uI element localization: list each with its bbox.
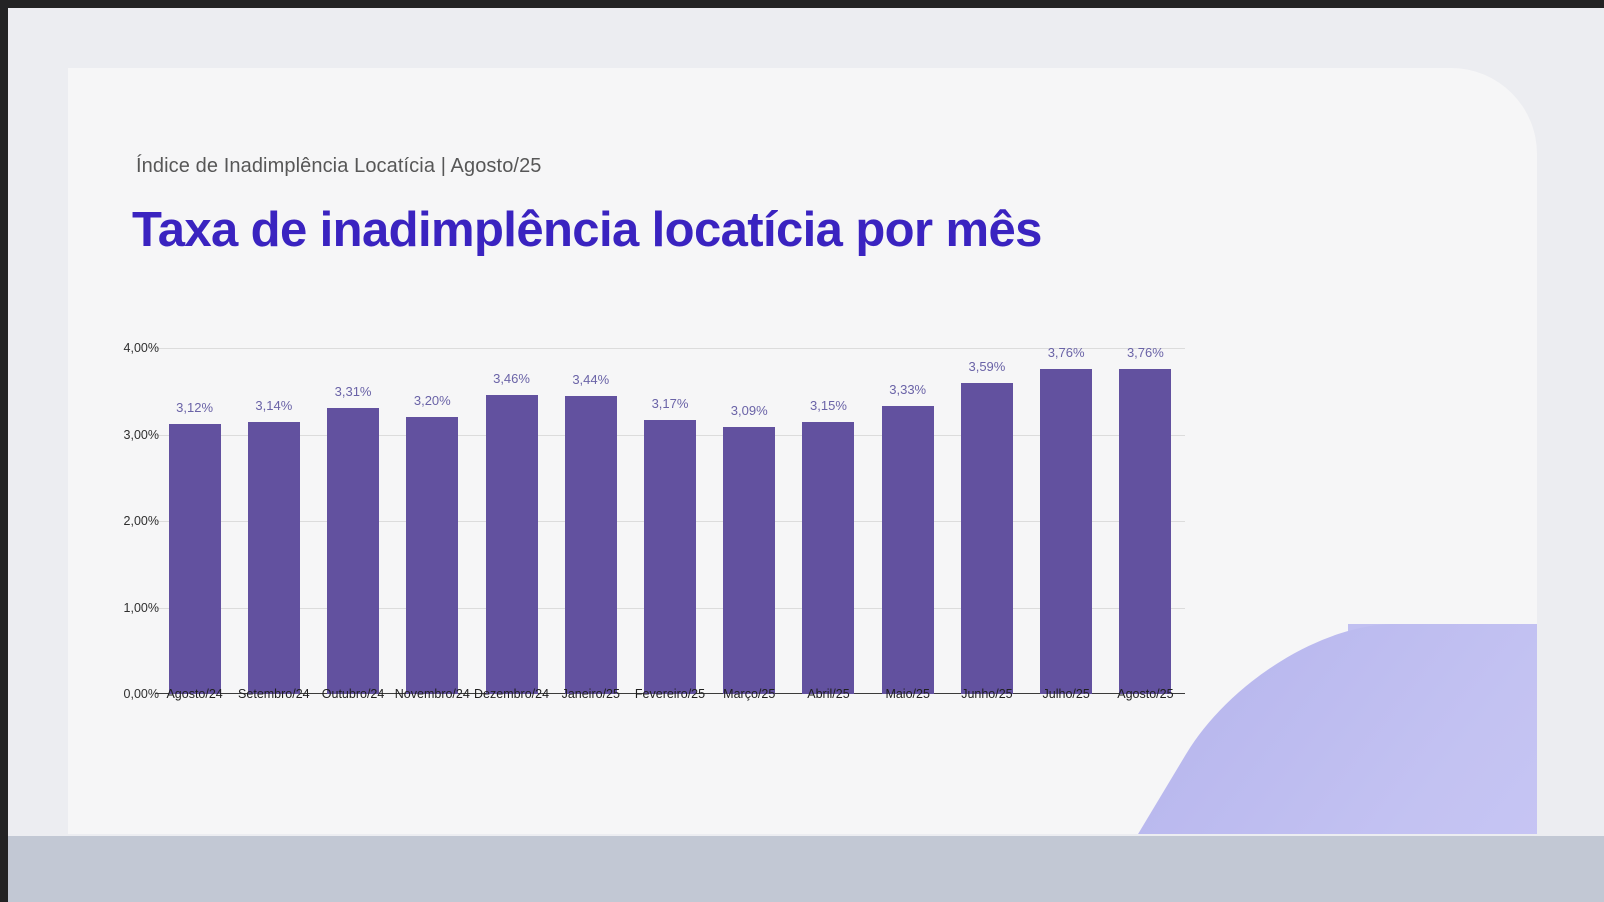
bar-value-label: 3,20%	[414, 393, 451, 408]
bar[interactable]	[644, 420, 696, 694]
window-chrome-top	[0, 0, 1604, 8]
x-axis-tick-label: Maio/25	[885, 687, 929, 701]
page-title: Taxa de inadimplência locatícia por mês	[132, 202, 1042, 258]
footer-band-left-edge	[0, 836, 8, 902]
bar[interactable]	[169, 424, 221, 694]
bar-value-label: 3,46%	[493, 371, 530, 386]
window-chrome-left	[0, 0, 8, 902]
x-axis-tick-label: Janeiro/25	[562, 687, 620, 701]
x-axis-tick-label: Agosto/25	[1117, 687, 1173, 701]
y-axis-tick-label: 1,00%	[124, 601, 159, 615]
bar[interactable]	[961, 383, 1013, 694]
bar-value-label: 3,76%	[1048, 345, 1085, 360]
x-axis-tick-label: Agosto/24	[166, 687, 222, 701]
bar-value-label: 3,76%	[1127, 345, 1164, 360]
bar-value-label: 3,17%	[652, 396, 689, 411]
x-axis-tick-label: Setembro/24	[238, 687, 310, 701]
bar[interactable]	[1119, 369, 1171, 694]
y-axis-tick-label: 0,00%	[124, 687, 159, 701]
y-axis-tick-label: 2,00%	[124, 514, 159, 528]
x-axis-tick-label: Dezembro/24	[474, 687, 549, 701]
chart-subtitle: Índice de Inadimplência Locatícia | Agos…	[136, 155, 542, 178]
bar[interactable]	[565, 396, 617, 694]
y-axis-tick-label: 3,00%	[124, 428, 159, 442]
bar[interactable]	[406, 417, 458, 694]
x-axis-tick-label: Junho/25	[961, 687, 1012, 701]
bar-value-label: 3,09%	[731, 403, 768, 418]
bar[interactable]	[486, 395, 538, 694]
x-axis-tick-label: Julho/25	[1043, 687, 1090, 701]
x-axis-tick-label: Novembro/24	[395, 687, 470, 701]
bar-value-label: 3,59%	[968, 359, 1005, 374]
bar-value-label: 3,33%	[889, 382, 926, 397]
bar[interactable]	[802, 422, 854, 694]
y-axis-tick-label: 4,00%	[124, 341, 159, 355]
bar[interactable]	[882, 406, 934, 694]
slide-canvas: Índice de Inadimplência Locatícia | Agos…	[0, 0, 1604, 902]
bar-value-label: 3,14%	[255, 398, 292, 413]
x-axis-tick-label: Outubro/24	[322, 687, 385, 701]
bar-value-label: 3,31%	[335, 384, 372, 399]
bar-value-label: 3,12%	[176, 400, 213, 415]
footer-band	[0, 836, 1604, 902]
x-axis-tick-label: Fevereiro/25	[635, 687, 705, 701]
bar-value-label: 3,15%	[810, 398, 847, 413]
gridline	[155, 348, 1185, 349]
x-axis-tick-label: Abril/25	[807, 687, 849, 701]
bar[interactable]	[327, 408, 379, 694]
bar[interactable]	[1040, 369, 1092, 694]
bar[interactable]	[248, 422, 300, 694]
plot-area: 3,12%3,14%3,31%3,20%3,46%3,44%3,17%3,09%…	[155, 348, 1185, 694]
bar[interactable]	[723, 427, 775, 694]
bar-chart: 3,12%3,14%3,31%3,20%3,46%3,44%3,17%3,09%…	[110, 335, 1200, 715]
x-axis-tick-label: Março/25	[723, 687, 775, 701]
bar-value-label: 3,44%	[572, 372, 609, 387]
